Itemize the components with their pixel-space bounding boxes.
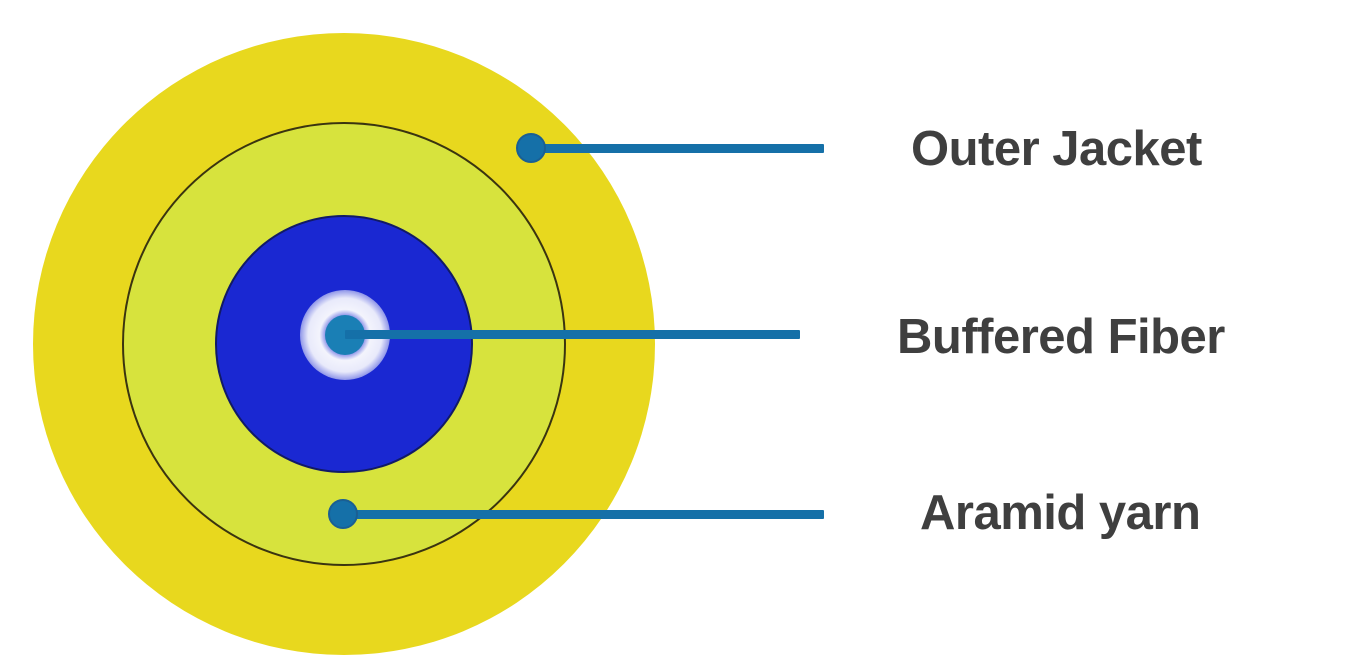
diagram-canvas: Outer Jacket Buffered Fiber Aramid yarn: [0, 0, 1361, 669]
leader-line-outer-jacket: [540, 144, 824, 153]
label-buffered-fiber: Buffered Fiber: [897, 313, 1225, 362]
leader-line-buffered-fiber: [345, 330, 800, 339]
leader-line-aramid-yarn: [352, 510, 824, 519]
label-outer-jacket: Outer Jacket: [911, 125, 1202, 174]
label-aramid-yarn: Aramid yarn: [920, 489, 1200, 538]
leader-dot-aramid-yarn-icon: [328, 499, 358, 529]
leader-dot-outer-jacket-icon: [516, 133, 546, 163]
